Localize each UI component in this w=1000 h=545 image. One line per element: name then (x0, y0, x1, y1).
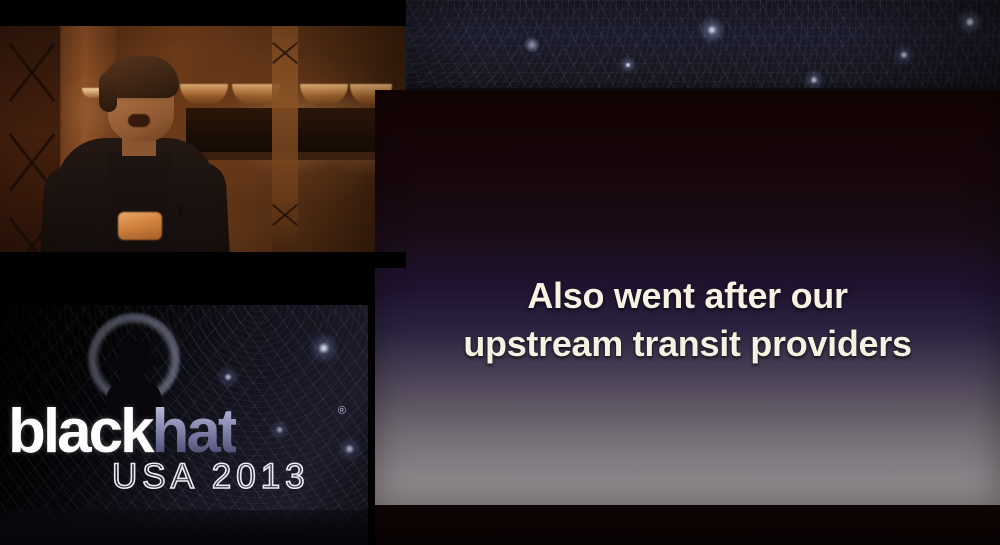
speaker-mouth (128, 114, 150, 127)
bowl-light (180, 84, 228, 106)
presentation-slide[interactable]: Also went after our upstream transit pro… (375, 90, 1000, 505)
speaker-video[interactable] (0, 0, 406, 268)
decorative-column (272, 26, 298, 268)
screenshot-stage: blackhat ® USA 2013 Also went after our … (0, 0, 1000, 545)
edition-label: USA 2013 (112, 457, 310, 497)
hat-crown (119, 341, 149, 361)
speaker-shirt (108, 152, 170, 268)
black-hat-wordmark: blackhat ® (8, 401, 368, 463)
video-letterbox-bottom (0, 252, 406, 268)
circuit-board-backdrop (400, 0, 1000, 100)
bowl-light (300, 84, 348, 106)
wordmark-hat: hat (152, 397, 236, 466)
logo-panel-fade (0, 510, 368, 545)
black-hat-logo-panel: blackhat ® USA 2013 (0, 305, 368, 545)
slide-bottom-letterbox (375, 505, 1000, 545)
registered-trademark-icon: ® (338, 405, 346, 417)
stage-scene (0, 26, 406, 268)
panel-divider (0, 268, 406, 305)
slide-headline-line-1: Also went after our (375, 272, 1000, 320)
wordmark-black: black (8, 397, 152, 466)
slide-headline: Also went after our upstream transit pro… (375, 272, 1000, 368)
video-letterbox-top (0, 0, 406, 26)
speaker-hair-side (99, 72, 117, 112)
lapel-microphone-icon (178, 206, 183, 215)
slide-headline-line-2: upstream transit providers (375, 320, 1000, 368)
wall-brace-icon (2, 32, 58, 110)
speaker-badge (118, 212, 162, 240)
